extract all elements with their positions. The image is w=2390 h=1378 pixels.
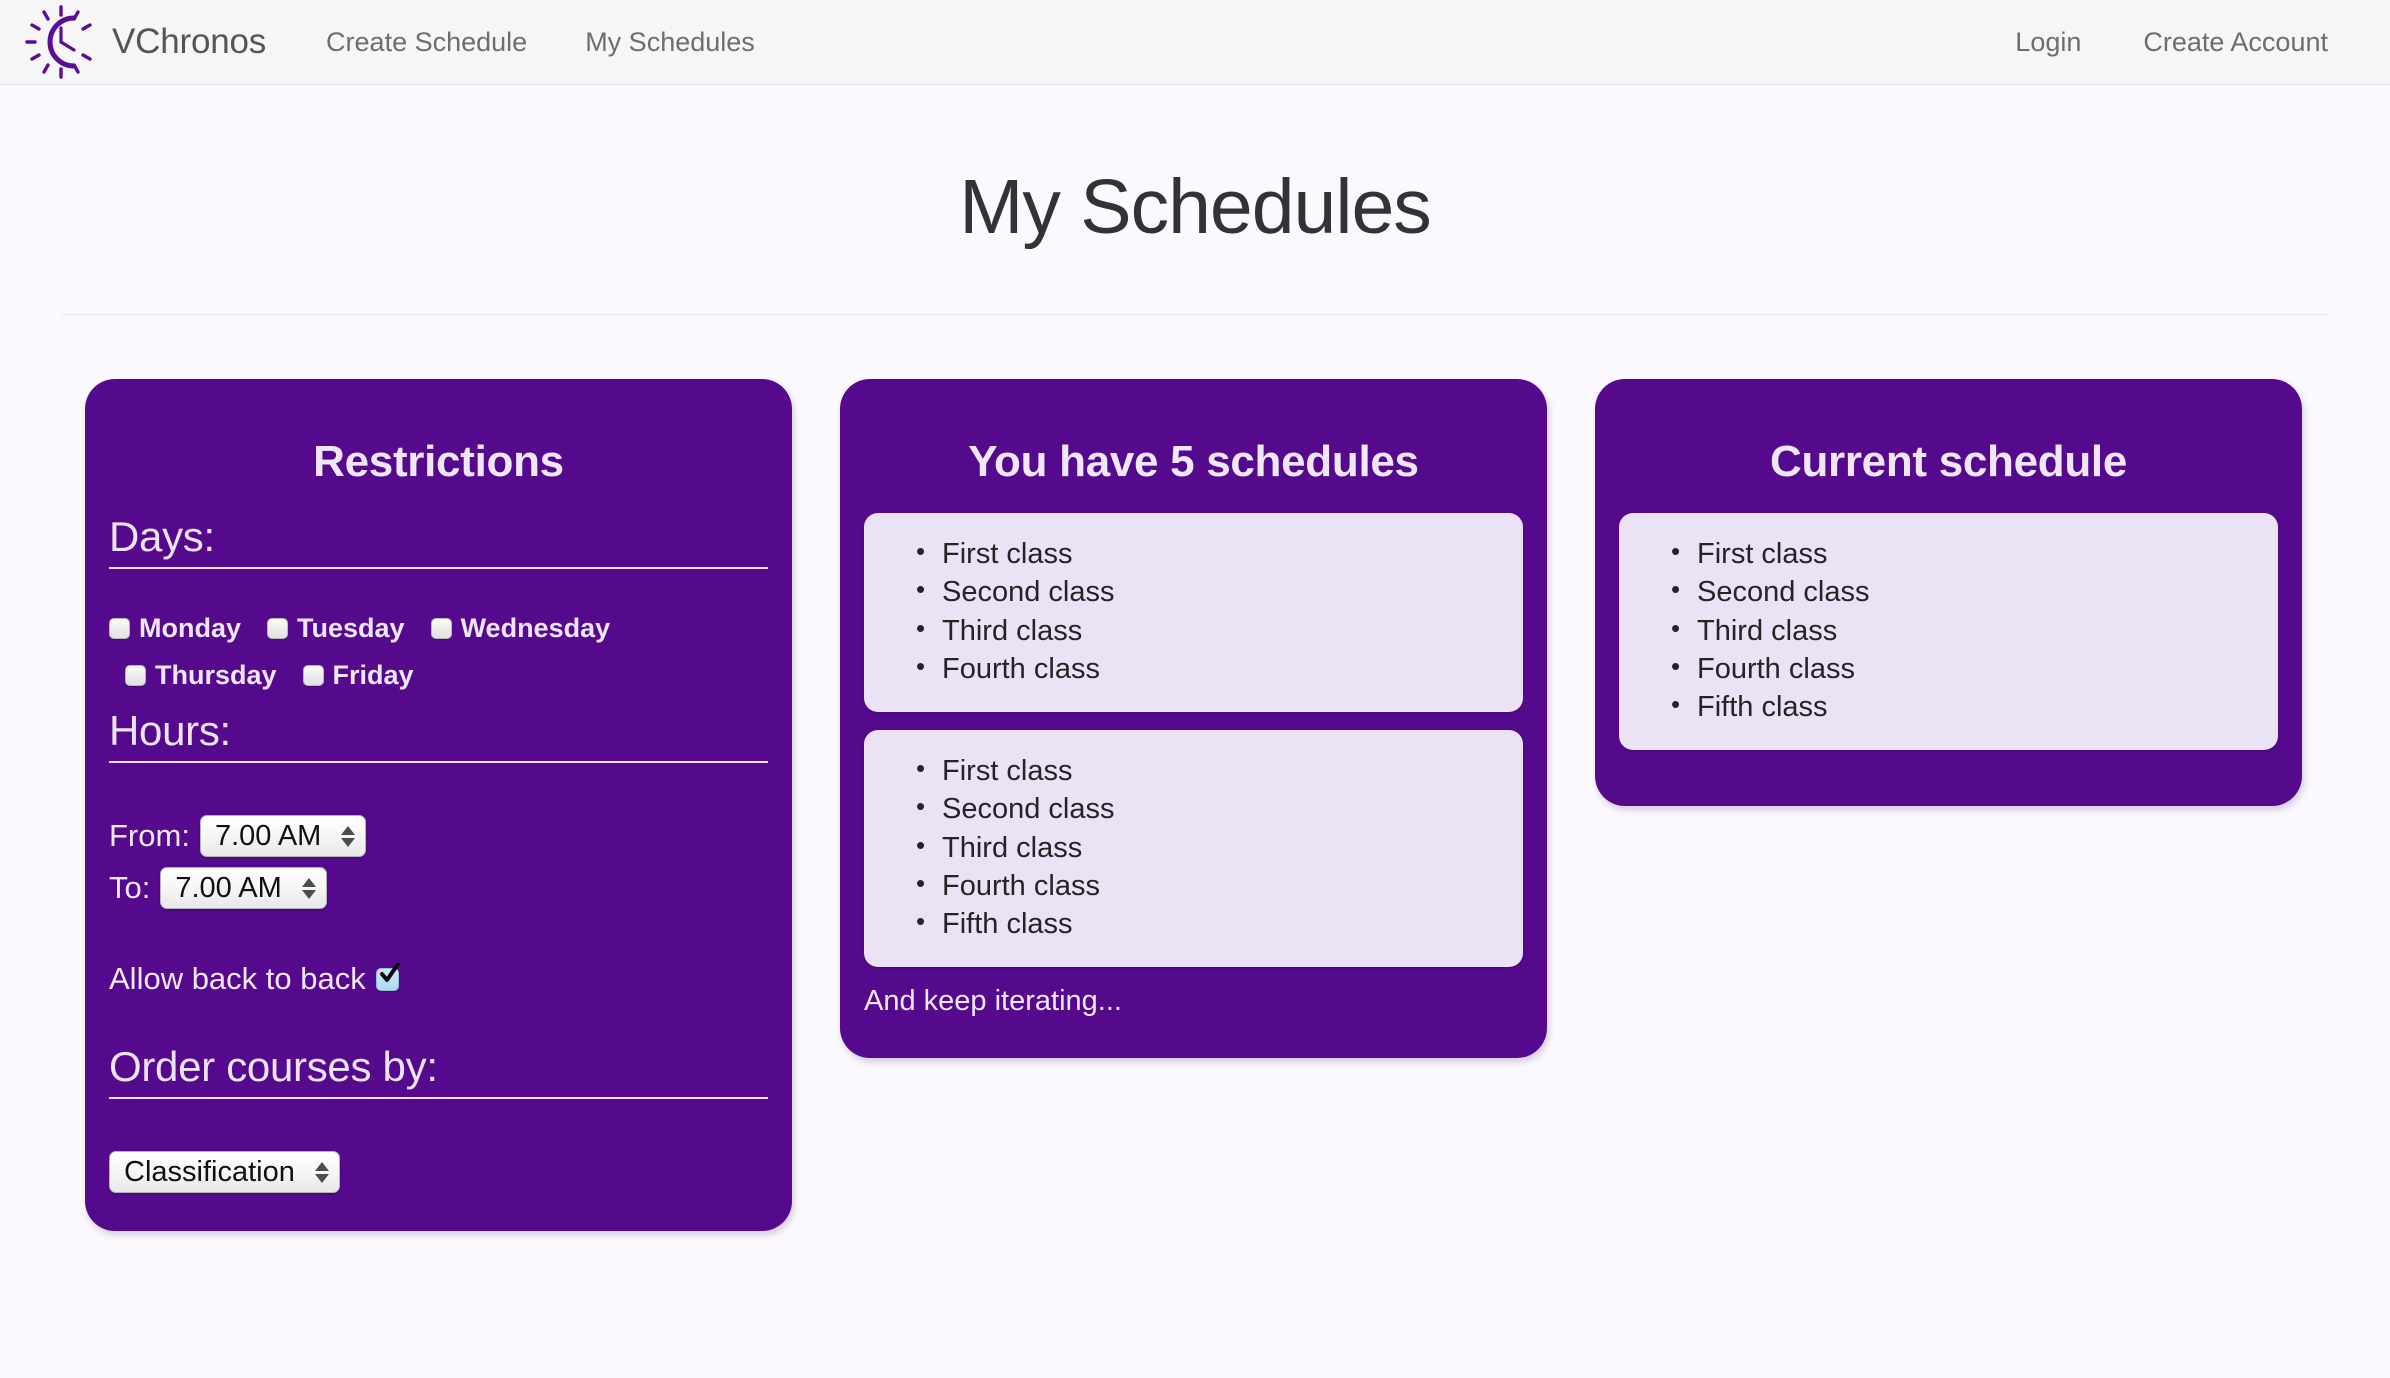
checkbox-box-friday[interactable] (303, 665, 324, 686)
current-schedule-title: Current schedule (1595, 437, 2302, 487)
checkbox-box-tuesday[interactable] (267, 618, 288, 639)
to-time-select[interactable]: 7.00 AM (160, 867, 326, 909)
order-courses-block: Classification (109, 1151, 768, 1193)
cards-row: Restrictions Days: Monday Tuesday Wednes… (0, 315, 2390, 1231)
list-item: Second class (942, 790, 1523, 828)
list-item: Fourth class (942, 867, 1523, 905)
chevron-up-icon (315, 1162, 329, 1171)
checkbox-box-thursday[interactable] (125, 665, 146, 686)
days-heading: Days: (109, 513, 768, 569)
days-checkbox-group: Monday Tuesday Wednesday Thursday (109, 613, 768, 691)
current-schedule-list: First class Second class Third class Fou… (1619, 535, 2278, 726)
list-item: Fifth class (1697, 688, 2278, 726)
list-item: Fifth class (942, 905, 1523, 943)
schedule-option-1[interactable]: First class Second class Third class Fou… (864, 513, 1523, 712)
schedules-card: You have 5 schedules First class Second … (840, 379, 1547, 1058)
navbar: VChronos Create Schedule My Schedules Lo… (0, 0, 2390, 85)
chevron-down-icon (302, 890, 316, 899)
from-time-value: 7.00 AM (215, 820, 321, 853)
chevron-up-icon (341, 826, 355, 835)
stepper-icon-order[interactable] (315, 1162, 329, 1183)
list-item: Second class (942, 573, 1523, 611)
schedule-option-1-list: First class Second class Third class Fou… (864, 535, 1523, 688)
hours-heading: Hours: (109, 707, 768, 763)
list-item: Third class (942, 612, 1523, 650)
checkbox-monday[interactable]: Monday (109, 613, 241, 644)
chevron-down-icon (315, 1174, 329, 1183)
restrictions-title: Restrictions (85, 437, 792, 487)
list-item: Fourth class (1697, 650, 2278, 688)
to-time-value: 7.00 AM (175, 872, 281, 905)
from-label: From: (109, 818, 190, 854)
checkbox-wednesday[interactable]: Wednesday (431, 613, 611, 644)
hours-block: From: 7.00 AM To: 7.00 AM (109, 815, 768, 909)
hours-to-row: To: 7.00 AM (109, 867, 768, 909)
checkmark-icon (379, 963, 401, 985)
order-courses-select[interactable]: Classification (109, 1151, 340, 1193)
checkbox-thursday[interactable]: Thursday (125, 660, 277, 691)
order-courses-value: Classification (124, 1156, 295, 1189)
schedule-option-2[interactable]: First class Second class Third class Fou… (864, 730, 1523, 967)
allow-back-to-back-row[interactable]: Allow back to back (109, 961, 768, 997)
list-item: Second class (1697, 573, 2278, 611)
clock-sun-logo-icon (24, 5, 98, 79)
from-time-select[interactable]: 7.00 AM (200, 815, 366, 857)
list-item: First class (1697, 535, 2278, 573)
checkbox-label-thursday: Thursday (155, 660, 277, 691)
keep-iterating-note: And keep iterating... (864, 985, 1523, 1018)
checkbox-allow-back-to-back[interactable] (376, 968, 399, 991)
brand-name: VChronos (112, 22, 266, 62)
current-schedule-panel: First class Second class Third class Fou… (1619, 513, 2278, 750)
checkbox-label-friday: Friday (333, 660, 414, 691)
checkbox-box-wednesday[interactable] (431, 618, 452, 639)
schedule-option-2-list: First class Second class Third class Fou… (864, 752, 1523, 943)
days-row-1: Monday Tuesday Wednesday (109, 613, 768, 644)
list-item: Third class (942, 829, 1523, 867)
to-label: To: (109, 870, 150, 906)
list-item: First class (942, 752, 1523, 790)
checkbox-label-monday: Monday (139, 613, 241, 644)
chevron-down-icon (341, 838, 355, 847)
restrictions-card: Restrictions Days: Monday Tuesday Wednes… (85, 379, 792, 1231)
stepper-icon-from[interactable] (341, 826, 355, 847)
schedules-title: You have 5 schedules (840, 437, 1547, 487)
secondary-nav: Login Create Account (2015, 27, 2350, 58)
nav-my-schedules[interactable]: My Schedules (585, 27, 755, 58)
primary-nav: Create Schedule My Schedules (326, 27, 755, 58)
checkbox-tuesday[interactable]: Tuesday (267, 613, 405, 644)
page-header: My Schedules (0, 85, 2390, 252)
allow-back-to-back-label: Allow back to back (109, 961, 366, 997)
list-item: Third class (1697, 612, 2278, 650)
nav-create-account[interactable]: Create Account (2143, 27, 2328, 58)
hours-from-row: From: 7.00 AM (109, 815, 768, 857)
current-schedule-card: Current schedule First class Second clas… (1595, 379, 2302, 806)
order-courses-heading: Order courses by: (109, 1043, 768, 1099)
days-row-2: Thursday Friday (109, 660, 768, 691)
checkbox-friday[interactable]: Friday (303, 660, 414, 691)
list-item: Fourth class (942, 650, 1523, 688)
checkbox-box-monday[interactable] (109, 618, 130, 639)
checkbox-label-tuesday: Tuesday (297, 613, 405, 644)
nav-create-schedule[interactable]: Create Schedule (326, 27, 527, 58)
checkbox-label-wednesday: Wednesday (461, 613, 611, 644)
list-item: First class (942, 535, 1523, 573)
chevron-up-icon (302, 878, 316, 887)
brand-logo-link[interactable]: VChronos (24, 5, 266, 79)
stepper-icon-to[interactable] (302, 878, 316, 899)
page-title: My Schedules (0, 163, 2390, 252)
nav-login[interactable]: Login (2015, 27, 2081, 58)
